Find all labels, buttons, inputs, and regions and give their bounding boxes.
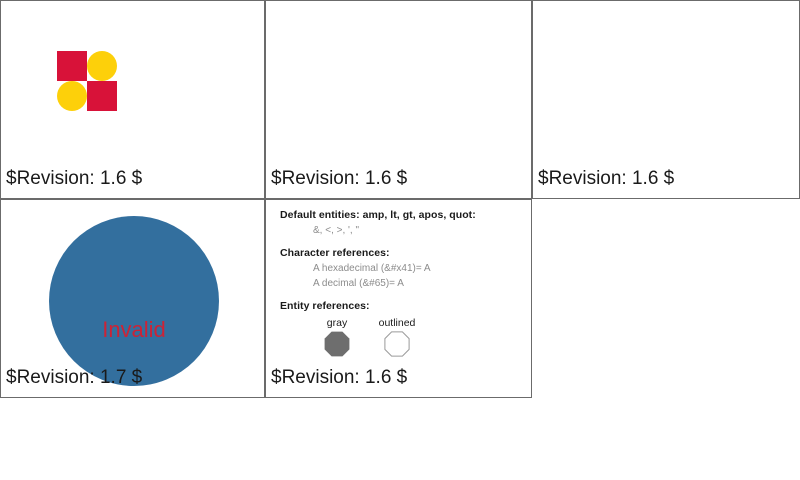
entities-panel: Default entities: amp, lt, gt, apos, quo… [265, 199, 532, 398]
logo-panel-3: $Revision: 1.6 $ [532, 0, 800, 199]
octagon-outlined-icon [384, 331, 410, 357]
logo-panel-1: $Revision: 1.6 $ [0, 0, 265, 199]
character-reference-hex-line: A hexadecimal (&#x41)= A [313, 261, 520, 276]
invalid-panel: Invalid $Revision: 1.7 $ [0, 199, 265, 398]
invalid-circle-shape [49, 216, 219, 386]
revision-label: $Revision: 1.6 $ [271, 366, 407, 389]
logo-panel-2: $Revision: 1.6 $ [265, 0, 532, 199]
default-entities-values: &, <, >, ', " [313, 223, 520, 238]
revision-label: $Revision: 1.6 $ [271, 167, 407, 190]
revision-label: $Revision: 1.6 $ [6, 167, 142, 190]
revision-label: $Revision: 1.6 $ [538, 167, 674, 190]
logo-tile-top-left-square [57, 51, 87, 81]
four-tile-logo-icon [57, 51, 117, 111]
octagon-filled-icon [324, 331, 350, 357]
character-reference-decimal-line: A decimal (&#65)= A [313, 276, 520, 291]
logo-tile-bottom-right-square [87, 81, 117, 111]
entities-content: Default entities: amp, lt, gt, apos, quo… [280, 208, 520, 368]
page-canvas: $Revision: 1.6 $ $Revision: 1.6 $ $Revis… [0, 0, 800, 480]
revision-label: $Revision: 1.7 $ [6, 366, 142, 389]
entity-reference-shapes: gray outlined [280, 316, 520, 368]
logo-tile-top-right-circle [87, 51, 117, 81]
default-entities-heading: Default entities: amp, lt, gt, apos, quo… [280, 208, 520, 223]
logo-tile-bottom-left-circle [57, 81, 87, 111]
entity-shape-outlined-label: outlined [362, 316, 432, 330]
entity-references-heading: Entity references: [280, 299, 520, 314]
entity-shape-outlined: outlined [362, 316, 432, 357]
character-references-heading: Character references: [280, 246, 520, 261]
